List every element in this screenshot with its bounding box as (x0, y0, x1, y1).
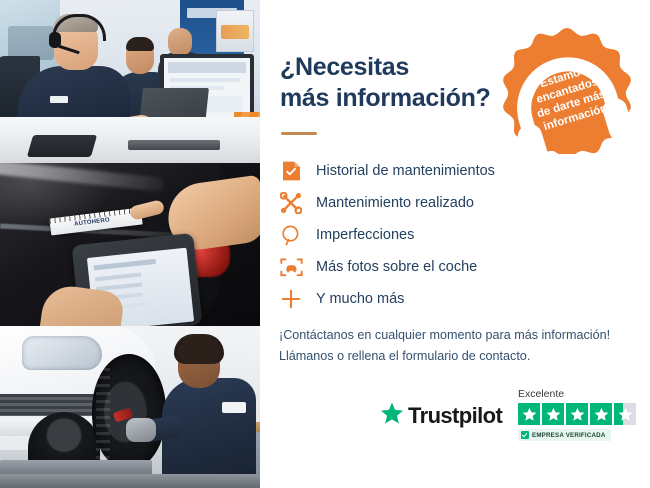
vehicle-inspection-photo: AUTOHERO (0, 163, 260, 326)
workshop-wheel-check-photo (0, 326, 260, 488)
feature-label: Imperfecciones (316, 228, 414, 243)
call-center-illustration (0, 0, 260, 163)
trustpilot-rating: Excelente (518, 388, 650, 444)
feature-item-much-more: Y mucho más (278, 283, 618, 315)
workshop-illustration (0, 326, 260, 488)
feature-item-maintenance-done: Mantenimiento realizado (278, 187, 618, 219)
contact-paragraph: ¡Contáctanos en cualquier momento para m… (279, 325, 639, 367)
feature-item-imperfections: Imperfecciones (278, 219, 618, 251)
feature-label: Más fotos sobre el coche (316, 260, 477, 275)
trustpilot-star-5 (614, 403, 636, 425)
call-center-agents-photo (0, 0, 260, 163)
vehicle-inspection-illustration: AUTOHERO (0, 163, 260, 326)
content-panel: ¿Necesitas más información? Estamos enca… (260, 0, 650, 488)
feature-list: Historial de mantenimientos M (278, 155, 618, 315)
title-divider (281, 132, 317, 135)
wrench-screwdriver-icon (278, 190, 304, 216)
trustpilot-logo[interactable]: Trustpilot (380, 402, 502, 430)
feature-label: Y mucho más (316, 292, 404, 307)
headline-line-2: más información? (280, 84, 491, 112)
headline-line-1: ¿Necesitas (280, 53, 409, 81)
feature-label: Historial de mantenimientos (316, 164, 495, 179)
trustpilot-star-icon (380, 402, 404, 430)
photo-column: AUTOHERO (0, 0, 260, 488)
trustpilot-star-1 (518, 403, 540, 425)
car-photo-frame-icon (278, 254, 304, 280)
feature-item-more-photos: Más fotos sobre el coche (278, 251, 618, 283)
feature-label: Mantenimiento realizado (316, 196, 474, 211)
trustpilot-wordmark: Trustpilot (408, 403, 502, 429)
magnifier-icon (278, 222, 304, 248)
verified-company-badge: EMPRESA VERIFICADA (518, 429, 611, 441)
trustpilot-star-2 (542, 403, 564, 425)
promo-card: AUTOHERO (0, 0, 650, 488)
trustpilot-rating-label: Excelente (518, 388, 650, 400)
contact-line-2: Llámanos o rellena el formulario de cont… (279, 346, 639, 367)
verified-check-icon (521, 431, 529, 439)
trustpilot-stars (518, 403, 650, 425)
promo-starburst-badge: Estamos encantados de darte más informac… (503, 26, 631, 154)
trustpilot-star-4 (590, 403, 612, 425)
contact-line-1: ¡Contáctanos en cualquier momento para m… (279, 325, 639, 346)
trustpilot-widget[interactable]: Trustpilot Excelente (380, 388, 650, 450)
plus-icon (278, 286, 304, 312)
trustpilot-star-3 (566, 403, 588, 425)
feature-item-maintenance-history: Historial de mantenimientos (278, 155, 618, 187)
document-check-icon (278, 158, 304, 184)
verified-company-label: EMPRESA VERIFICADA (532, 432, 606, 439)
